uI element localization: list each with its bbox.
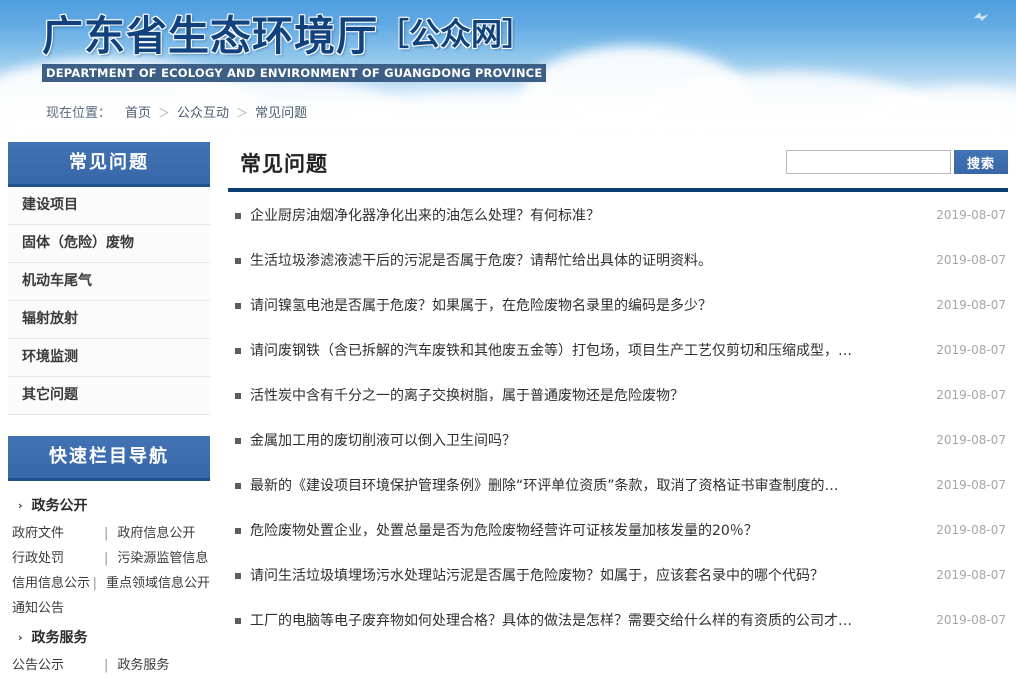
quick-nav-row: 通知公告: [8, 596, 210, 621]
page-title: 常见问题: [240, 148, 328, 178]
quick-nav-row: 公告公示 | 政务服务: [8, 653, 210, 678]
quick-nav-link-government-services[interactable]: 政务服务: [117, 653, 169, 678]
site-title: 广东省生态环境厅［公众网］: [42, 10, 512, 61]
sidebar-title: 常见问题: [8, 142, 210, 187]
faq-title[interactable]: 请问废钢铁（含已拆解的汽车废铁和其他废五金等）打包场，项目生产工艺仅剪切和压缩成…: [250, 340, 922, 360]
quick-nav-link-notice-announcement[interactable]: 通知公告: [8, 596, 104, 621]
faq-list: 企业厨房油烟净化器净化出来的油怎么处理？有何标准？ 2019-08-07 生活垃…: [228, 192, 1008, 642]
sidebar-item-construction-projects[interactable]: 建设项目: [8, 187, 210, 225]
search-input[interactable]: [786, 150, 951, 174]
faq-date: 2019-08-07: [922, 253, 1006, 267]
faq-date: 2019-08-07: [922, 568, 1006, 582]
faq-date: 2019-08-07: [922, 298, 1006, 312]
quick-nav-link-pollution-source-supervision[interactable]: 污染源监管信息: [117, 546, 208, 571]
faq-title[interactable]: 工厂的电脑等电子废弃物如何处理合格？具体的做法是怎样？需要交给什么样的有资质的公…: [250, 610, 922, 630]
quick-nav-title: 快速栏目导航: [8, 436, 210, 481]
site-title-cn: 广东省生态环境厅: [42, 12, 378, 60]
quick-nav-divider: |: [104, 521, 117, 546]
breadcrumb-item-faq[interactable]: 常见问题: [255, 106, 307, 121]
list-item[interactable]: 危险废物处置企业，处置总量是否为危险废物经营许可证核发量加核发量的20％？ 20…: [228, 507, 1008, 552]
quick-nav-link-announcement-publicity[interactable]: 公告公示: [8, 653, 104, 678]
site-title-english: DEPARTMENT OF ECOLOGY AND ENVIRONMENT OF…: [42, 64, 546, 82]
list-item[interactable]: 工厂的电脑等电子废弃物如何处理合格？具体的做法是怎样？需要交给什么样的有资质的公…: [228, 597, 1008, 642]
bullet-icon: [235, 528, 241, 534]
faq-title[interactable]: 危险废物处置企业，处置总量是否为危险废物经营许可证核发量加核发量的20％？: [250, 520, 922, 540]
sidebar: 常见问题 建设项目 固体（危险）废物 机动车尾气 辐射放射 环境监测 其它问题 …: [8, 142, 210, 684]
list-item[interactable]: 企业厨房油烟净化器净化出来的油怎么处理？有何标准？ 2019-08-07: [228, 192, 1008, 237]
list-item[interactable]: 请问废钢铁（含已拆解的汽车废铁和其他废五金等）打包场，项目生产工艺仅剪切和压缩成…: [228, 327, 1008, 372]
faq-title[interactable]: 请问镍氢电池是否属于危废？如果属于，在危险废物名录里的编码是多少？: [250, 295, 922, 315]
quick-nav-link-key-area-info-disclosure[interactable]: 重点领域信息公开: [106, 571, 210, 596]
quick-nav-link-government-info-disclosure[interactable]: 政府信息公开: [117, 521, 195, 546]
faq-date: 2019-08-07: [922, 388, 1006, 402]
quick-nav-group-label: 政务公开: [32, 498, 88, 514]
content-header: 常见问题 搜索: [228, 142, 1008, 188]
faq-date: 2019-08-07: [922, 523, 1006, 537]
quick-nav-divider: |: [104, 653, 117, 678]
sidebar-item-other-questions[interactable]: 其它问题: [8, 377, 210, 415]
site-banner: 广东省生态环境厅［公众网］ DEPARTMENT OF ECOLOGY AND …: [0, 0, 1016, 138]
bullet-icon: [235, 573, 241, 579]
main-content: 常见问题 搜索 企业厨房油烟净化器净化出来的油怎么处理？有何标准？ 2019-0…: [228, 142, 1008, 642]
breadcrumb-item-home[interactable]: 首页: [125, 106, 151, 121]
faq-date: 2019-08-07: [922, 433, 1006, 447]
breadcrumb-label: 现在位置：: [46, 106, 125, 121]
breadcrumb-separator: ＞: [151, 106, 177, 120]
faq-title[interactable]: 活性炭中含有千分之一的离子交换树脂，属于普通废物还是危险废物？: [250, 385, 922, 405]
search-box: 搜索: [786, 150, 1008, 174]
quick-nav-row: 行政处罚 | 污染源监管信息: [8, 546, 210, 571]
bullet-icon: [235, 213, 241, 219]
list-item[interactable]: 金属加工用的废切削液可以倒入卫生间吗？ 2019-08-07: [228, 417, 1008, 462]
quick-nav-row: 政府文件 | 政府信息公开: [8, 521, 210, 546]
faq-title[interactable]: 金属加工用的废切削液可以倒入卫生间吗？: [250, 430, 922, 450]
faq-title[interactable]: 最新的《建设项目环境保护管理条例》删除“环评单位资质”条款，取消了资格证书审查制…: [250, 475, 922, 495]
list-item[interactable]: 活性炭中含有千分之一的离子交换树脂，属于普通废物还是危险废物？ 2019-08-…: [228, 372, 1008, 417]
site-title-bracket: ［公众网］: [378, 17, 533, 53]
sidebar-item-radiation[interactable]: 辐射放射: [8, 301, 210, 339]
bullet-icon: [235, 303, 241, 309]
quick-nav-body: ›政务公开 政府文件 | 政府信息公开 行政处罚 | 污染源监管信息 信用信息公…: [8, 481, 210, 684]
bullet-icon: [235, 618, 241, 624]
sidebar-item-solid-hazardous-waste[interactable]: 固体（危险）废物: [8, 225, 210, 263]
breadcrumb-separator: ＞: [229, 106, 255, 120]
breadcrumb: 现在位置：首页＞公众互动＞常见问题: [46, 102, 307, 121]
bullet-icon: [235, 348, 241, 354]
bullet-icon: [235, 483, 241, 489]
quick-nav-group-label: 政务服务: [32, 630, 88, 646]
page-body: 常见问题 建设项目 固体（危险）废物 机动车尾气 辐射放射 环境监测 其它问题 …: [0, 138, 1016, 661]
list-item[interactable]: 最新的《建设项目环境保护管理条例》删除“环评单位资质”条款，取消了资格证书审查制…: [228, 462, 1008, 507]
faq-title[interactable]: 请问生活垃圾填埋场污水处理站污泥是否属于危险废物？如属于，应该套名录中的哪个代码…: [250, 565, 922, 585]
sidebar-menu: 建设项目 固体（危险）废物 机动车尾气 辐射放射 环境监测 其它问题: [8, 187, 210, 415]
sidebar-item-vehicle-exhaust[interactable]: 机动车尾气: [8, 263, 210, 301]
bullet-icon: [235, 258, 241, 264]
list-item[interactable]: 请问生活垃圾填埋场污水处理站污泥是否属于危险废物？如属于，应该套名录中的哪个代码…: [228, 552, 1008, 597]
breadcrumb-item-public-interaction[interactable]: 公众互动: [177, 106, 229, 121]
bullet-icon: [235, 393, 241, 399]
chevron-right-icon: ›: [18, 499, 32, 512]
sidebar-item-environmental-monitoring[interactable]: 环境监测: [8, 339, 210, 377]
quick-nav-panel: 快速栏目导航 ›政务公开 政府文件 | 政府信息公开 行政处罚 | 污染源监管信…: [8, 436, 210, 684]
list-item[interactable]: 生活垃圾渗滤液滤干后的污泥是否属于危废？请帮忙给出具体的证明资料。 2019-0…: [228, 237, 1008, 282]
chevron-right-icon: ›: [18, 631, 32, 644]
quick-nav-group-government-affairs: ›政务公开 政府文件 | 政府信息公开 行政处罚 | 污染源监管信息 信用信息公…: [8, 491, 210, 621]
quick-nav-group-government-services: ›政务服务 公告公示 | 政务服务: [8, 623, 210, 678]
bird-icon: [972, 10, 990, 26]
quick-nav-group-title[interactable]: ›政务公开: [8, 491, 210, 521]
faq-title[interactable]: 生活垃圾渗滤液滤干后的污泥是否属于危废？请帮忙给出具体的证明资料。: [250, 250, 922, 270]
bullet-icon: [235, 438, 241, 444]
faq-date: 2019-08-07: [922, 613, 1006, 627]
quick-nav-link-credit-info-publicity[interactable]: 信用信息公示: [8, 571, 93, 596]
faq-date: 2019-08-07: [922, 208, 1006, 222]
quick-nav-link-administrative-penalty[interactable]: 行政处罚: [8, 546, 104, 571]
quick-nav-divider: |: [104, 546, 117, 571]
quick-nav-link-government-documents[interactable]: 政府文件: [8, 521, 104, 546]
faq-date: 2019-08-07: [922, 478, 1006, 492]
quick-nav-row: 信用信息公示 | 重点领域信息公开: [8, 571, 210, 596]
faq-date: 2019-08-07: [922, 343, 1006, 357]
list-item[interactable]: 请问镍氢电池是否属于危废？如果属于，在危险废物名录里的编码是多少？ 2019-0…: [228, 282, 1008, 327]
site-logo[interactable]: 广东省生态环境厅［公众网］ DEPARTMENT OF ECOLOGY AND …: [42, 10, 512, 82]
quick-nav-group-title[interactable]: ›政务服务: [8, 623, 210, 653]
faq-title[interactable]: 企业厨房油烟净化器净化出来的油怎么处理？有何标准？: [250, 205, 922, 225]
search-button[interactable]: 搜索: [954, 150, 1008, 174]
quick-nav-divider: |: [93, 571, 106, 596]
